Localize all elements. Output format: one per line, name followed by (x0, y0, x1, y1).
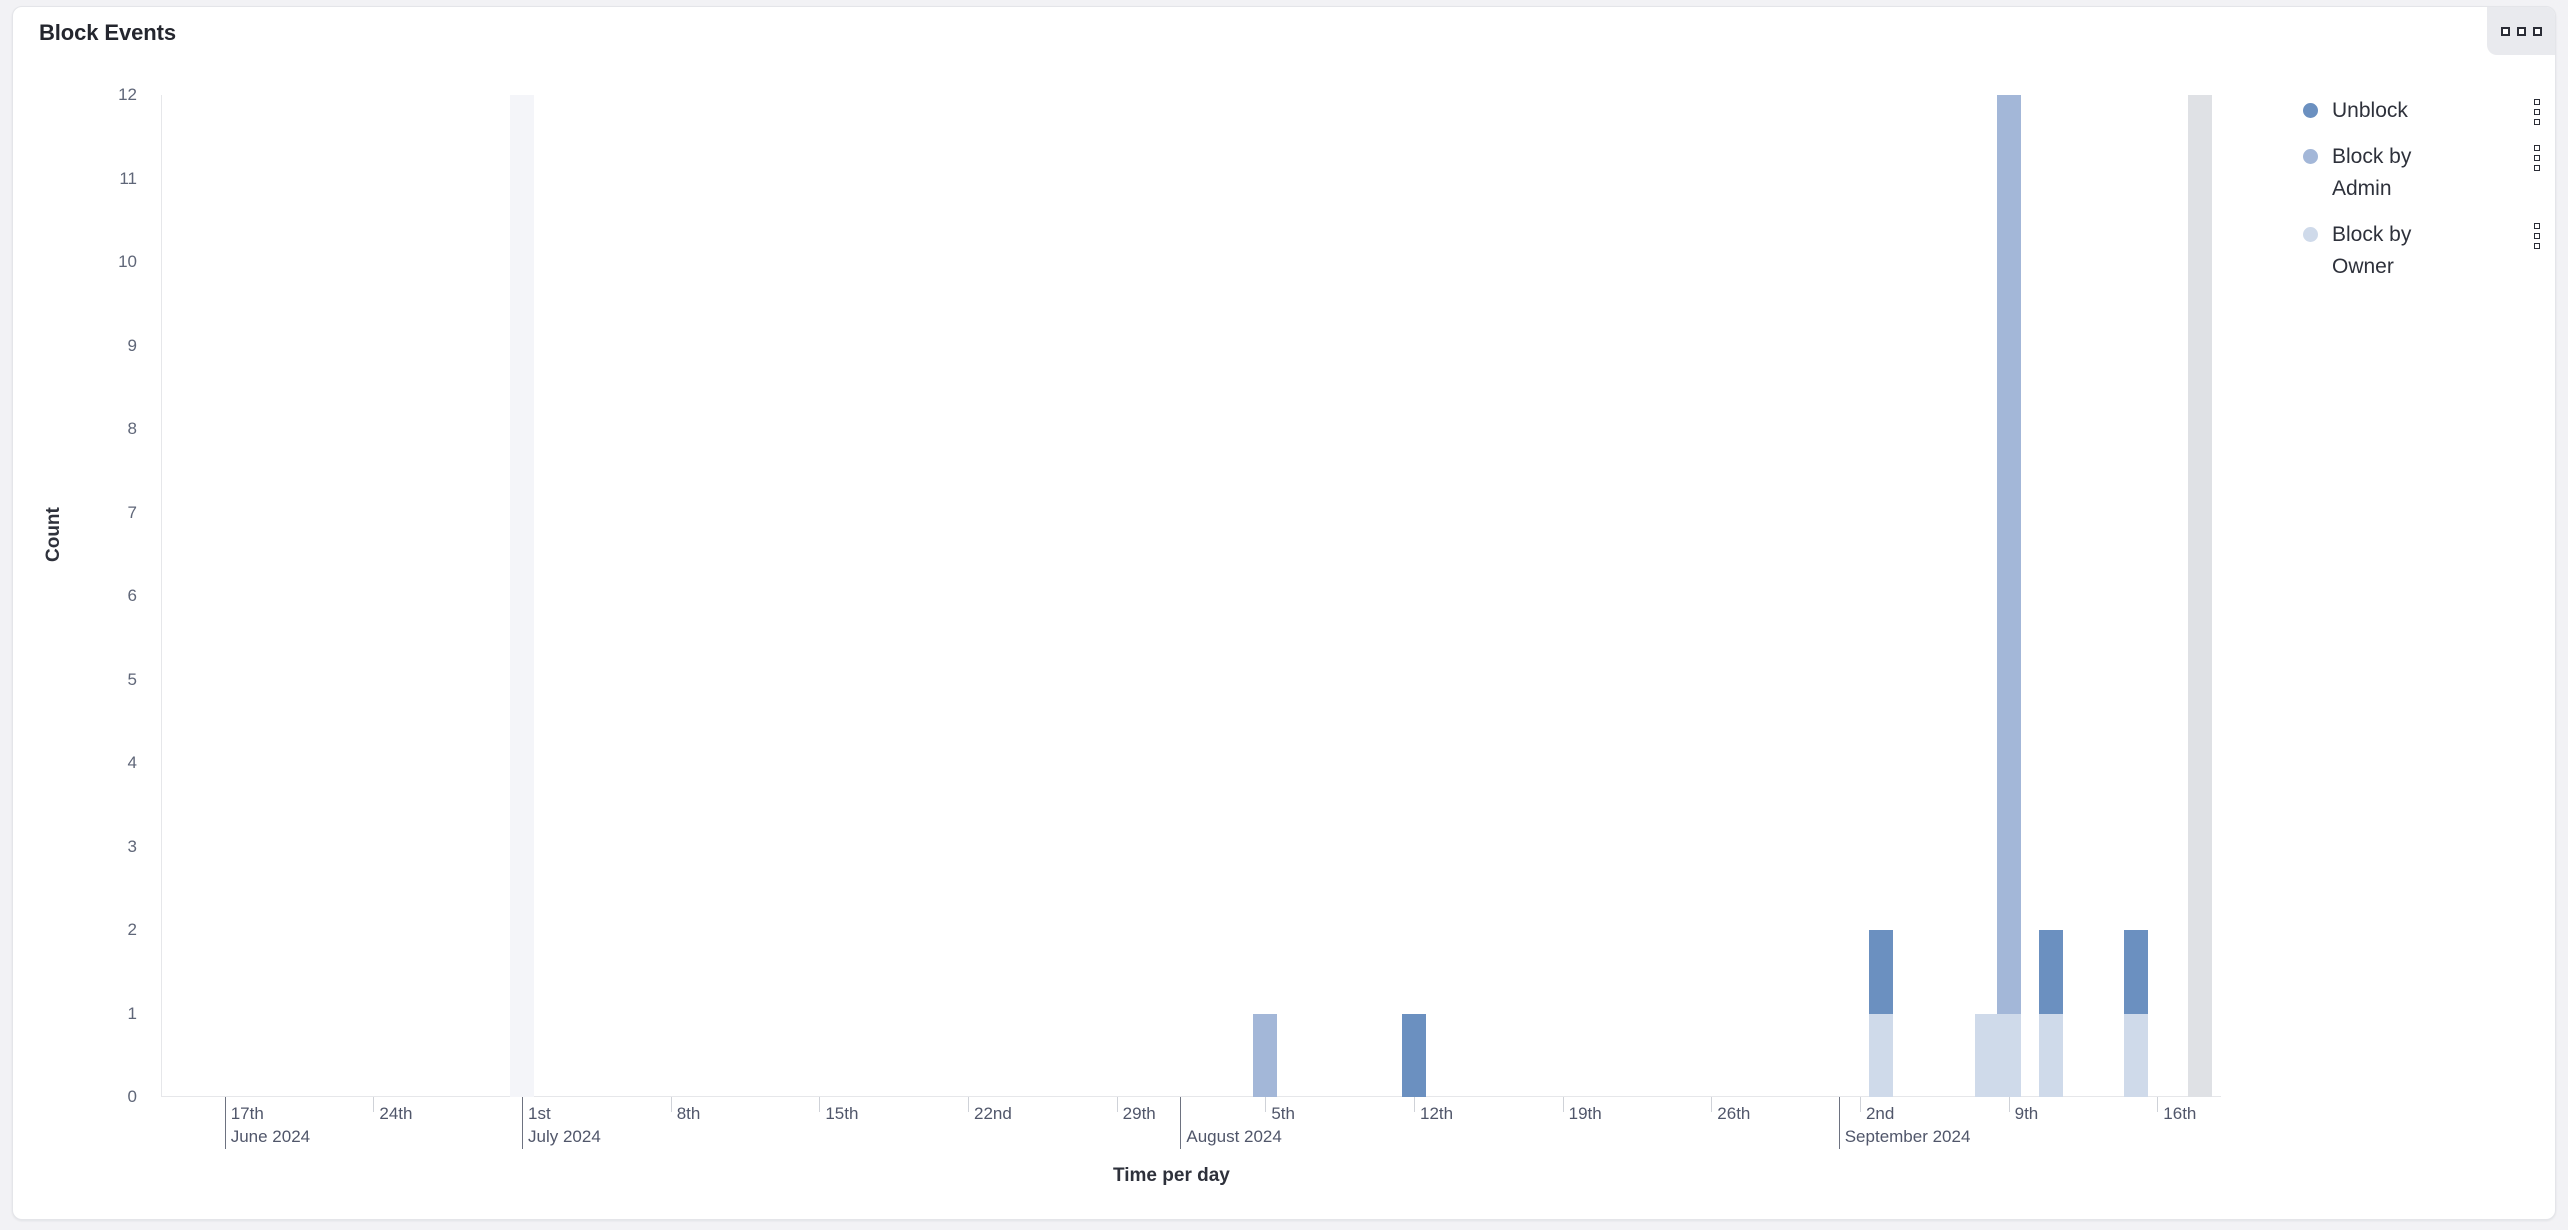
y-axis-tick-label: 1 (128, 1004, 137, 1024)
three-squares-vertical-icon (2534, 233, 2540, 239)
y-axis-tick-label: 11 (119, 169, 137, 189)
bar-segment[interactable] (2124, 1014, 2148, 1098)
y-axis-tick-label: 4 (128, 753, 137, 773)
x-axis-tick-rule (2009, 1097, 2010, 1112)
bar-stack[interactable] (2039, 930, 2063, 1097)
y-axis-tick-label: 3 (128, 837, 137, 857)
legend-item-menu-button[interactable] (2529, 145, 2545, 171)
x-axis-day-label: 19th (1569, 1104, 1602, 1124)
y-axis-tick-label: 0 (128, 1087, 137, 1107)
chart-area: Count Time per day 0123456789101112 17th… (13, 7, 2555, 1219)
legend-color-dot-icon (2303, 149, 2318, 164)
x-axis-day-label: 22nd (974, 1104, 1012, 1124)
y-axis-tick-label: 5 (128, 670, 137, 690)
x-axis-day-label: 1st (528, 1104, 551, 1124)
bar-stack[interactable] (1402, 1014, 1426, 1098)
legend-item[interactable]: Block by Owner (2303, 219, 2553, 283)
plot-region[interactable] (161, 95, 2221, 1097)
bar-segment[interactable] (1997, 1014, 2021, 1098)
legend-color-dot-icon (2303, 103, 2318, 118)
x-axis-tick-rule (671, 1097, 672, 1112)
three-squares-vertical-icon (2534, 243, 2540, 249)
x-axis-day-label: 12th (1420, 1104, 1453, 1124)
bar-segment[interactable] (1997, 95, 2021, 1014)
bar-stack[interactable] (2124, 930, 2148, 1097)
x-axis-month-label: June 2024 (231, 1127, 310, 1147)
x-axis-tick-rule (2157, 1097, 2158, 1112)
y-axis-tick-label: 2 (128, 920, 137, 940)
y-axis-line (161, 95, 162, 1097)
three-squares-vertical-icon (2534, 155, 2540, 161)
bar-segment[interactable] (2039, 930, 2063, 1014)
x-axis-tick-rule (1265, 1097, 1266, 1112)
screenshot-root: Block Events Count Time per day 01234567… (0, 0, 2568, 1230)
x-axis-tick-rule (1839, 1097, 1840, 1149)
legend-color-dot-icon (2303, 227, 2318, 242)
legend-item-label: Block by Owner (2332, 219, 2452, 283)
y-axis-tick-label: 10 (118, 252, 137, 272)
x-axis-tick-rule (1860, 1097, 1861, 1112)
y-axis-tick-label: 6 (128, 586, 137, 606)
x-axis-tick-rule (1180, 1097, 1181, 1149)
three-squares-vertical-icon (2534, 223, 2540, 229)
bar-segment[interactable] (1869, 1014, 1893, 1098)
x-axis-day-label: 17th (231, 1104, 264, 1124)
x-axis-tick-rule (225, 1097, 226, 1149)
x-axis-tick-rule (1414, 1097, 1415, 1112)
legend-item[interactable]: Unblock (2303, 95, 2553, 127)
three-squares-vertical-icon (2534, 145, 2540, 151)
x-axis-day-label: 8th (677, 1104, 701, 1124)
y-axis-tick-label: 8 (128, 419, 137, 439)
x-axis-day-label: 26th (1717, 1104, 1750, 1124)
bar-stack[interactable] (1869, 930, 1893, 1097)
x-axis-tick-rule (1563, 1097, 1564, 1112)
x-axis-month-label: August 2024 (1186, 1127, 1281, 1147)
x-axis-day-label: 29th (1123, 1104, 1156, 1124)
three-squares-vertical-icon (2534, 99, 2540, 105)
highlight-band (510, 95, 534, 1097)
three-squares-vertical-icon (2534, 119, 2540, 125)
bar-segment[interactable] (2039, 1014, 2063, 1098)
bar-segment[interactable] (1869, 930, 1893, 1014)
x-axis-day-label: 16th (2163, 1104, 2196, 1124)
legend-item-label: Block by Admin (2332, 141, 2452, 205)
x-axis-tick-rule (522, 1097, 523, 1149)
y-axis-tick-label: 12 (118, 85, 137, 105)
x-axis-day-label: 24th (379, 1104, 412, 1124)
legend-item-menu-button[interactable] (2529, 99, 2545, 125)
x-axis-tick-rule (819, 1097, 820, 1112)
x-axis-day-label: 2nd (1866, 1104, 1894, 1124)
x-axis-tick-rule (1711, 1097, 1712, 1112)
legend-item-label: Unblock (2332, 95, 2408, 127)
x-axis-day-label: 15th (825, 1104, 858, 1124)
bar-segment[interactable] (1402, 1014, 1426, 1098)
bar-segment[interactable] (1253, 1014, 1277, 1098)
legend-item-menu-button[interactable] (2529, 223, 2545, 249)
block-events-panel: Block Events Count Time per day 01234567… (12, 6, 2556, 1220)
y-axis-ticks: 0123456789101112 (13, 7, 153, 1219)
x-axis-ticks: 17thJune 202424th1stJuly 20248th15th22nd… (161, 1097, 2221, 1177)
bar-stack[interactable] (1997, 95, 2021, 1097)
x-axis-day-label: 5th (1271, 1104, 1295, 1124)
x-axis-tick-rule (1117, 1097, 1118, 1112)
y-axis-tick-label: 7 (128, 503, 137, 523)
three-squares-vertical-icon (2534, 165, 2540, 171)
three-squares-vertical-icon (2534, 109, 2540, 115)
y-axis-tick-label: 9 (128, 336, 137, 356)
x-axis-tick-rule (968, 1097, 969, 1112)
bar-stack[interactable] (1253, 1014, 1277, 1098)
highlight-band (2188, 95, 2212, 1097)
x-axis-month-label: July 2024 (528, 1127, 601, 1147)
legend-item[interactable]: Block by Admin (2303, 141, 2553, 205)
bar-segment[interactable] (2124, 930, 2148, 1014)
chart-legend: UnblockBlock by AdminBlock by Owner (2303, 95, 2553, 297)
x-axis-tick-rule (373, 1097, 374, 1112)
x-axis-month-label: September 2024 (1845, 1127, 1971, 1147)
x-axis-day-label: 9th (2015, 1104, 2039, 1124)
